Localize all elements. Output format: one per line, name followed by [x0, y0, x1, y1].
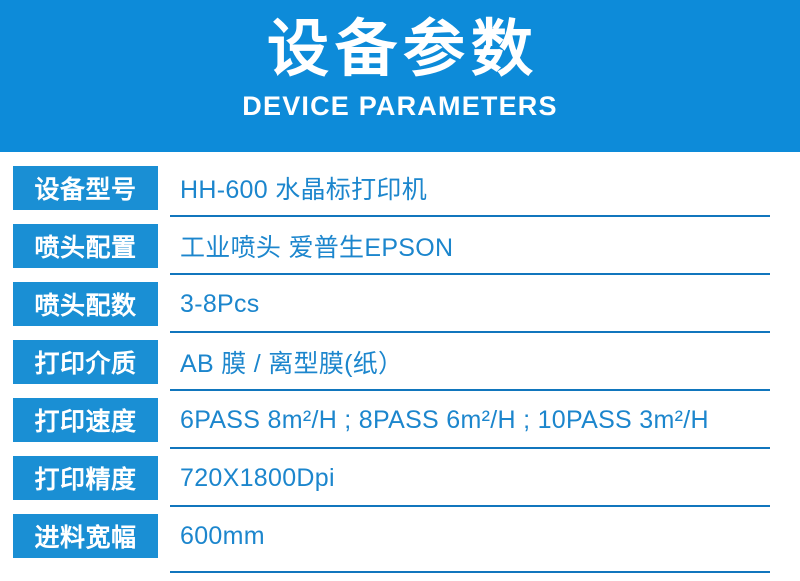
spec-label-print-speed: 打印速度	[13, 398, 158, 442]
spec-label-nozzle-count: 喷头配数	[13, 282, 158, 326]
device-parameters-page: 设备参数 DEVICE PARAMETERS 设备型号 HH-600 水晶标打印…	[0, 0, 800, 581]
row-divider	[170, 571, 770, 573]
spec-label-feed-width: 进料宽幅	[13, 514, 158, 558]
spec-value-feed-width: 600mm	[180, 522, 800, 551]
spec-label-nozzle-configuration: 喷头配置	[13, 224, 158, 268]
spec-value-nozzle-count: 3-8Pcs	[180, 290, 800, 319]
page-title: 设备参数	[261, 14, 539, 85]
spec-value-nozzle-configuration: 工业喷头 爱普生EPSON	[180, 228, 800, 264]
spec-table: 设备型号 HH-600 水晶标打印机 喷头配置 工业喷头 爱普生EPSON 喷头…	[0, 152, 800, 565]
table-row: 进料宽幅 600mm	[0, 507, 800, 565]
spec-label-print-resolution: 打印精度	[13, 456, 158, 500]
spec-value-device-model: HH-600 水晶标打印机	[180, 170, 800, 206]
table-row: 喷头配置 工业喷头 爱普生EPSON	[0, 217, 800, 275]
table-row: 打印精度 720X1800Dpi	[0, 449, 800, 507]
spec-label-device-model: 设备型号	[13, 166, 158, 210]
table-row: 打印介质 AB 膜 / 离型膜(纸）	[0, 333, 800, 391]
spec-label-print-media: 打印介质	[13, 340, 158, 384]
spec-value-print-media: AB 膜 / 离型膜(纸）	[180, 344, 800, 380]
page-subtitle: DEVICE PARAMETERS	[242, 91, 557, 122]
table-row: 打印速度 6PASS 8m²/H ; 8PASS 6m²/H ; 10PASS …	[0, 391, 800, 449]
table-row: 设备型号 HH-600 水晶标打印机	[0, 159, 800, 217]
spec-value-print-speed: 6PASS 8m²/H ; 8PASS 6m²/H ; 10PASS 3m²/H	[180, 406, 800, 435]
page-header-banner: 设备参数 DEVICE PARAMETERS	[0, 0, 800, 152]
spec-value-print-resolution: 720X1800Dpi	[180, 464, 800, 493]
table-row: 喷头配数 3-8Pcs	[0, 275, 800, 333]
